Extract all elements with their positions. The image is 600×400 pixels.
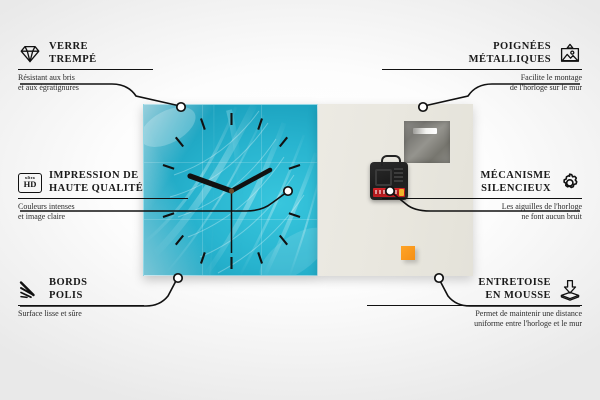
- minute-hand: [232, 170, 271, 191]
- feature-rule: [18, 69, 153, 70]
- foam-spacer: [401, 246, 415, 260]
- feature-rule: [382, 69, 582, 70]
- feature-rule: [18, 198, 188, 199]
- feature-title: MÉCANISME SILENCIEUX: [480, 170, 551, 195]
- feature-poignees-metalliques: POIGNÉES MÉTALLIQUES Facilite le montage…: [382, 41, 582, 93]
- clock-center-cap: [229, 188, 234, 193]
- feature-subtitle-1: Facilite le montage: [382, 73, 582, 83]
- bracket-slot: [413, 128, 437, 134]
- feature-subtitle-1: Les aiguilles de l'horloge: [382, 202, 582, 212]
- feature-header: VERRE TREMPÉ: [18, 41, 178, 66]
- feature-title: POIGNÉES MÉTALLIQUES: [469, 41, 551, 66]
- metallic-bracket: [404, 121, 450, 163]
- feature-subtitle-1: Permet de maintenir une distance: [367, 309, 582, 319]
- feature-subtitle-2: de l'horloge sur le mur: [382, 83, 582, 93]
- ultra-hd-badge-icon: ultra HD: [18, 173, 42, 193]
- ultra-hd-large-text: HD: [24, 180, 37, 189]
- feature-subtitle-2: ne font aucun bruit: [382, 212, 582, 222]
- foam-spacer-arrow-icon: [558, 278, 582, 302]
- feature-rule: [382, 198, 582, 199]
- feature-header: MÉCANISME SILENCIEUX: [382, 170, 582, 195]
- feature-title: VERRE TREMPÉ: [49, 41, 97, 66]
- feature-header: ultra HD IMPRESSION DE HAUTE QUALITÉ: [18, 170, 208, 195]
- feature-title: ENTRETOISE EN MOUSSE: [478, 277, 551, 302]
- diamond-icon: [18, 42, 42, 66]
- feature-subtitle-1: Surface lisse et sûre: [18, 309, 178, 319]
- infographic-canvas: VERRE TREMPÉ Résistant aux bris et aux é…: [0, 0, 600, 400]
- feature-bords-polis: BORDS POLIS Surface lisse et sûre: [18, 277, 178, 319]
- feature-impression-hd: ultra HD IMPRESSION DE HAUTE QUALITÉ Cou…: [18, 170, 208, 222]
- feature-verre-trempe: VERRE TREMPÉ Résistant aux bris et aux é…: [18, 41, 178, 93]
- feature-subtitle-1: Couleurs intenses: [18, 202, 208, 212]
- feature-subtitle-1: Résistant aux bris: [18, 73, 178, 83]
- feature-header: BORDS POLIS: [18, 277, 178, 302]
- feature-header: POIGNÉES MÉTALLIQUES: [382, 41, 582, 66]
- feature-subtitle-2: et aux égratignures: [18, 83, 178, 93]
- feature-header: ENTRETOISE EN MOUSSE: [367, 277, 582, 302]
- feature-title: BORDS POLIS: [49, 277, 87, 302]
- feature-rule: [18, 305, 144, 306]
- gear-icon: [558, 171, 582, 195]
- mechanism-hanger: [381, 155, 401, 166]
- feature-subtitle-2: et image claire: [18, 212, 208, 222]
- feature-entretoise-en-mousse: ENTRETOISE EN MOUSSE Permet de maintenir…: [367, 277, 582, 329]
- feature-subtitle-2: uniforme entre l'horloge et le mur: [367, 319, 582, 329]
- polished-edges-icon: [18, 278, 42, 302]
- hanging-frame-icon: [558, 42, 582, 66]
- feature-mecanisme-silencieux: MÉCANISME SILENCIEUX Les aiguilles de l'…: [382, 170, 582, 222]
- feature-rule: [367, 305, 582, 306]
- feature-title: IMPRESSION DE HAUTE QUALITÉ: [49, 170, 143, 195]
